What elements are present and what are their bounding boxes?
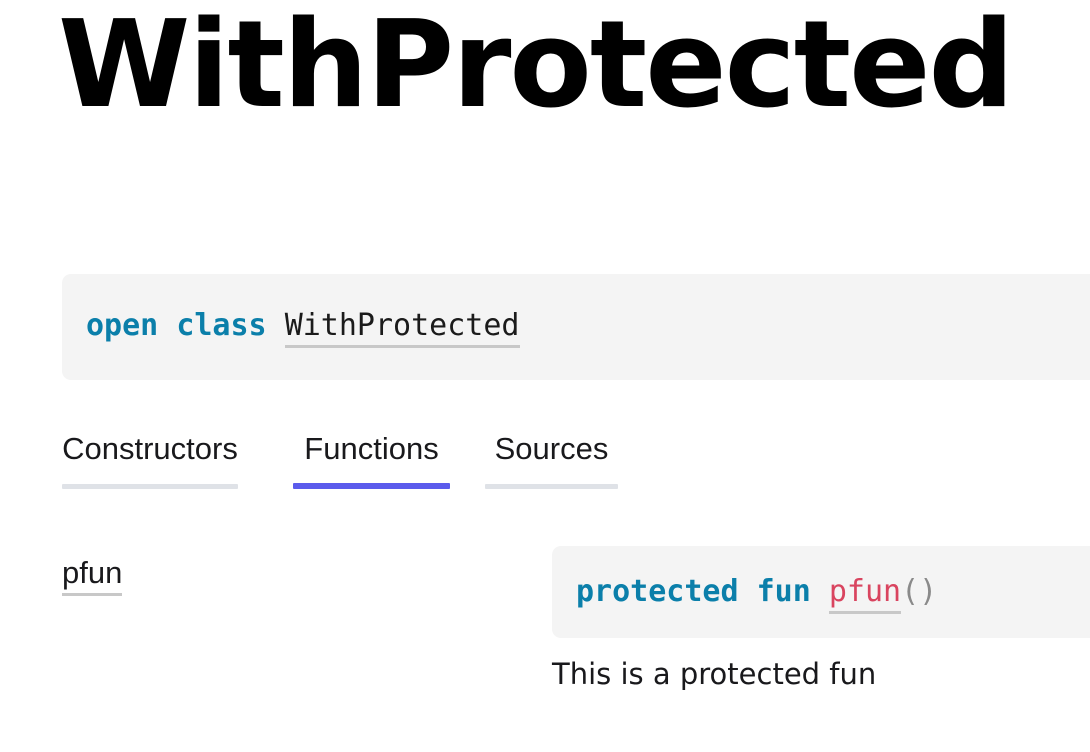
member-name-link[interactable]: pfun: [62, 555, 122, 596]
tab-sources[interactable]: Sources: [485, 424, 618, 502]
function-name-link[interactable]: pfun: [829, 574, 901, 614]
modifier-keyword: open: [86, 308, 158, 343]
tab-constructors-label: Constructors: [62, 424, 238, 474]
class-signature-line: open class WithProtected: [86, 306, 520, 346]
tab-sources-underline: [485, 484, 618, 489]
class-signature-block: open class WithProtected: [62, 274, 1090, 380]
tab-functions[interactable]: Functions: [293, 424, 450, 502]
tab-bar: Constructors Functions Sources: [62, 424, 1082, 502]
member-signature-block: protected fun pfun(): [552, 546, 1090, 638]
documentation-page: WithProtected open class WithProtected C…: [0, 0, 1090, 752]
class-name-link[interactable]: WithProtected: [285, 308, 520, 348]
tab-functions-underline: [293, 483, 450, 489]
member-modifier-keyword: protected: [576, 574, 739, 609]
member-space-1: [739, 574, 757, 609]
fun-keyword: fun: [757, 574, 811, 609]
tab-sources-label: Sources: [485, 424, 618, 474]
member-detail-column: protected fun pfun() This is a protected…: [552, 546, 1090, 693]
tab-functions-label: Functions: [293, 424, 450, 474]
tab-constructors[interactable]: Constructors: [62, 424, 238, 502]
tab-constructors-underline: [62, 484, 238, 489]
member-name-column: pfun: [62, 552, 482, 594]
member-description: This is a protected fun: [552, 655, 1090, 693]
signature-space-2: [267, 308, 285, 343]
signature-space-1: [158, 308, 176, 343]
parentheses: (): [901, 574, 937, 609]
member-row: pfun protected fun pfun() This is a prot…: [62, 546, 1090, 726]
member-signature-line: protected fun pfun(): [576, 572, 937, 612]
page-title: WithProtected: [58, 0, 1012, 136]
member-space-2: [811, 574, 829, 609]
class-keyword: class: [176, 308, 266, 343]
